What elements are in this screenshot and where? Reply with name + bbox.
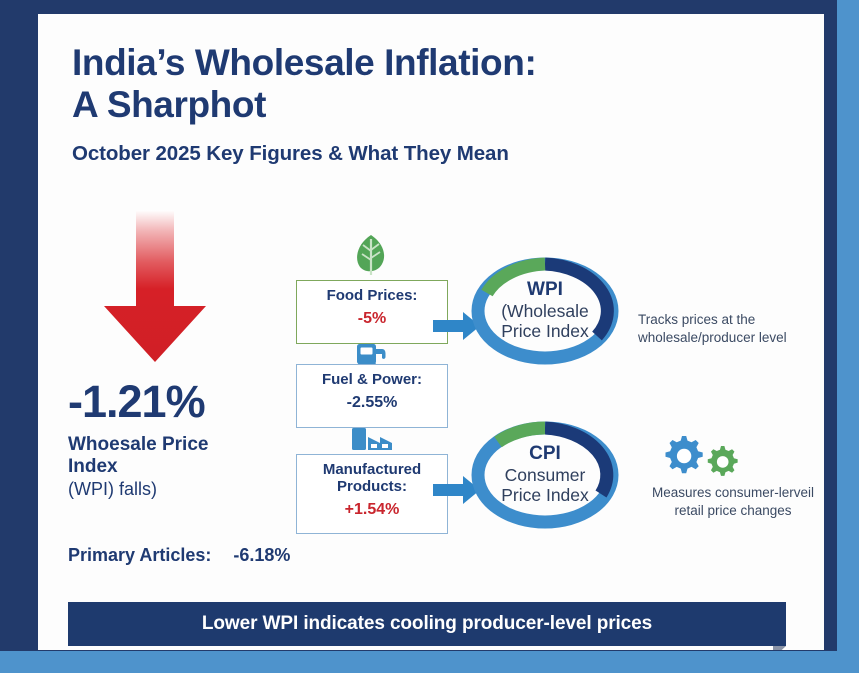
frame-accent-right [837,0,859,673]
headline-stat-block: -1.21% Whoesale Price Index (WPI) falls) [68,379,288,501]
category-card-food: Food Prices: -5% [296,280,448,344]
wpi-value: -1.21% [68,379,288,424]
cpi-caption-line-1: Measures consumer-lerveil [638,484,824,502]
page-title-line-2: A Sharphot [72,84,772,126]
primary-articles-value: -6.18% [233,545,290,566]
wpi-caption-line-2: wholesale/producer level [638,329,813,347]
wpi-caption-line-1: Tracks prices at the [638,311,813,329]
gears-icon [656,432,752,485]
cpi-donut-chart: CPI Consumer Price Index [461,414,629,536]
category-value: -5% [301,310,443,328]
arrow-down-icon [100,210,210,362]
wpi-sublabel: (WPI) falls) [68,479,288,501]
category-name: Food Prices: [301,288,443,305]
page-subtitle: October 2025 Key Figures & What They Mea… [72,142,772,166]
category-value: -2.55% [301,394,443,412]
frame-accent-bottom [0,651,859,673]
category-value: +1.54% [301,501,443,519]
header-block: India’s Wholesale Inflation: A Sharphot … [72,42,772,166]
cpi-caption-line-2: retail price changes [638,502,824,520]
page-title-line-1: India’s Wholesale Inflation: [72,42,772,84]
category-card-fuel: Fuel & Power: -2.55% [296,364,448,428]
wpi-label: Whoesale Price Index [68,434,253,478]
category-name: Fuel & Power: [301,372,443,389]
wpi-donut-chart: WPI (Wholesale Price Index [461,250,629,372]
banner-fold-corner [773,646,786,650]
primary-articles-label: Primary Articles: [68,545,211,566]
cpi-caption: Measures consumer-lerveil retail price c… [638,484,824,520]
infographic-card: India’s Wholesale Inflation: A Sharphot … [38,14,824,650]
category-card-manufactured: Manufactured Products: +1.54% [296,454,448,534]
footer-banner-text: Lower WPI indicates cooling producer-lev… [202,613,652,635]
infographic-frame: India’s Wholesale Inflation: A Sharphot … [0,0,859,673]
primary-articles-row: Primary Articles: -6.18% [68,545,290,566]
footer-banner: Lower WPI indicates cooling producer-lev… [68,602,786,646]
leaf-icon [354,234,388,281]
factory-icon [350,426,396,457]
wpi-caption: Tracks prices at the wholesale/producer … [638,311,813,347]
category-name: Manufactured Products: [301,462,443,496]
